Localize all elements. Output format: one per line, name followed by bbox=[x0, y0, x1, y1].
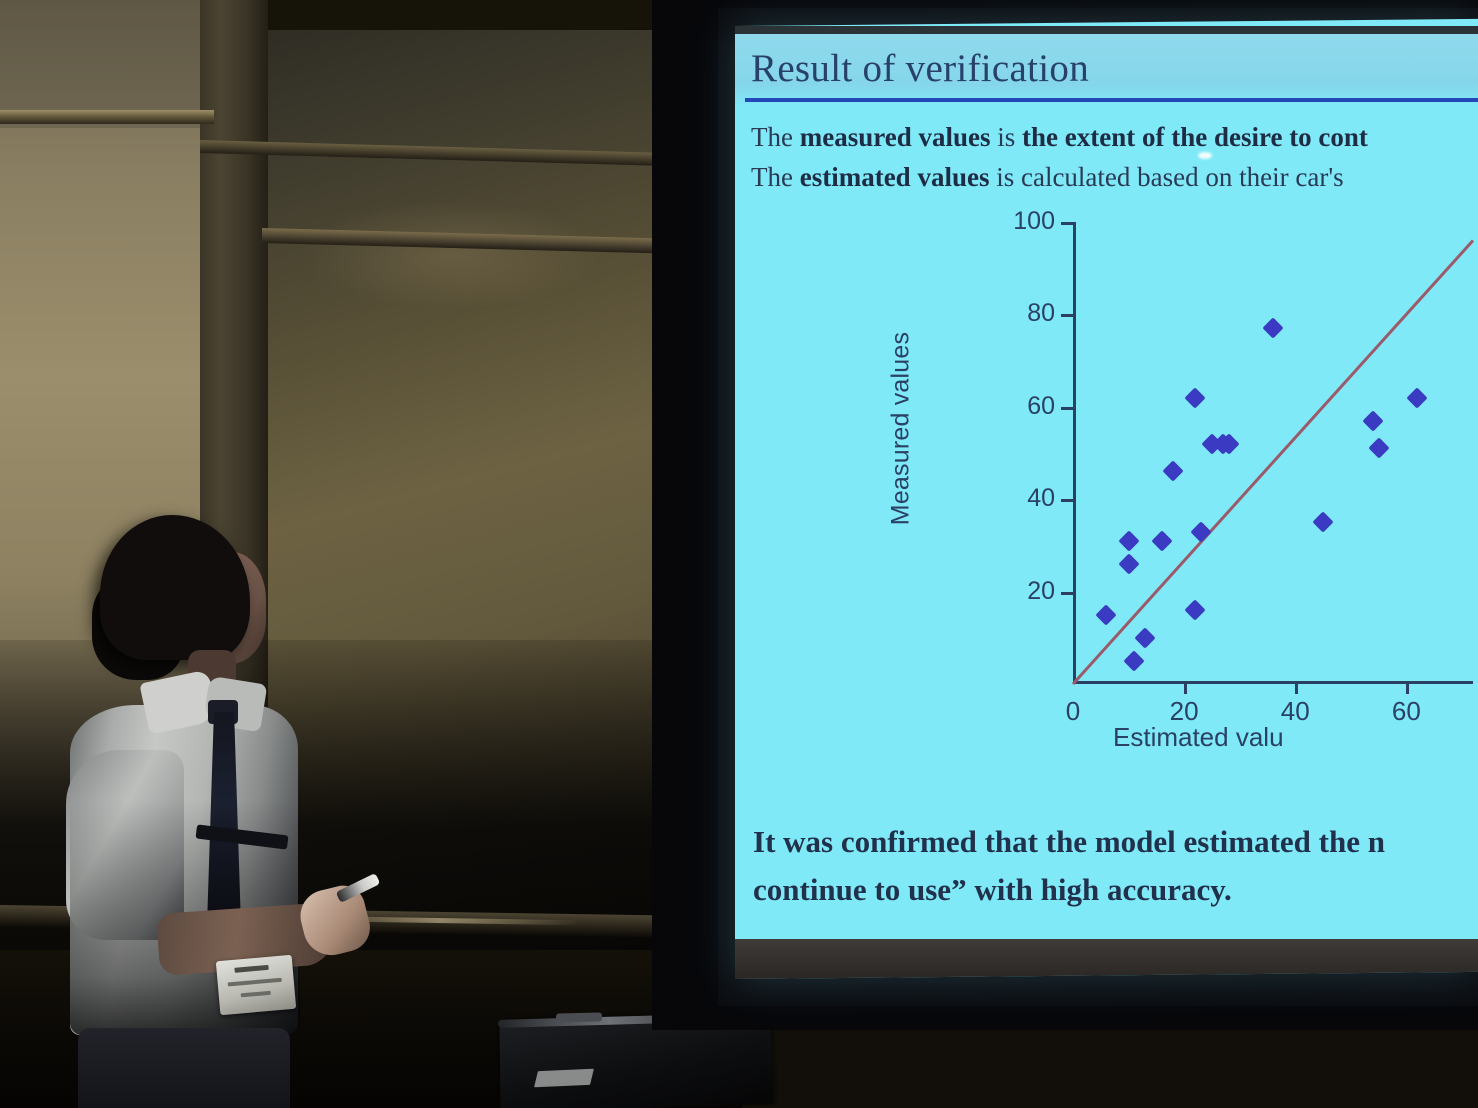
chart-y-tick-label: 20 bbox=[1027, 577, 1055, 606]
chart-y-tick-label: 40 bbox=[1027, 484, 1055, 513]
chart-y-tick-label: 60 bbox=[1027, 392, 1055, 421]
chart-y-tick-label: 80 bbox=[1027, 299, 1055, 328]
badge-line-country bbox=[241, 991, 271, 998]
badge-line-name bbox=[234, 965, 268, 973]
slide-body-line-2: The estimated values is calculated based… bbox=[751, 162, 1344, 193]
line1-bold-measured-values: measured values bbox=[800, 122, 991, 152]
line1-mid: is bbox=[991, 122, 1023, 152]
conclusion-line-2: continue to use” with high accuracy. bbox=[753, 872, 1232, 908]
laptop-hinge bbox=[556, 1012, 602, 1022]
chart-y-tick bbox=[1061, 407, 1075, 410]
line2-mid: is calculated based on their car's bbox=[989, 162, 1343, 192]
scatter-chart: Measured values Estimated valu 204060801… bbox=[963, 214, 1478, 774]
chart-x-tick-label: 60 bbox=[1392, 696, 1421, 727]
chart-x-tick-label: 0 bbox=[1066, 696, 1080, 727]
wall-left-upper bbox=[0, 0, 212, 128]
badge-line-affiliation bbox=[228, 978, 282, 987]
title-underline-rule bbox=[745, 98, 1478, 102]
line1-bold-tail: the extent of the desire to cont bbox=[1022, 122, 1368, 152]
line2-prefix: The bbox=[751, 162, 800, 192]
conclusion-line-1: It was confirmed that the model estimate… bbox=[753, 824, 1385, 860]
chart-trendline bbox=[1073, 222, 1473, 684]
name-badge bbox=[216, 955, 296, 1015]
presenter bbox=[40, 500, 370, 1108]
line2-bold-estimated-values: estimated values bbox=[800, 162, 990, 192]
chart-x-tick bbox=[1406, 681, 1409, 694]
chart-y-tick bbox=[1061, 592, 1075, 595]
line1-prefix: The bbox=[751, 122, 800, 152]
screenshot-root: Result of verification The measured valu… bbox=[0, 0, 1478, 1108]
chart-x-tick bbox=[1184, 681, 1187, 694]
slide-title: Result of verification bbox=[751, 46, 1089, 91]
chart-x-tick-label: 20 bbox=[1170, 696, 1199, 727]
slide: Result of verification The measured valu… bbox=[735, 34, 1478, 939]
chart-y-tick bbox=[1061, 314, 1075, 317]
chart-x-tick-label: 40 bbox=[1281, 696, 1310, 727]
projection-screen: Result of verification The measured valu… bbox=[735, 19, 1478, 979]
laptop-sticker-label bbox=[534, 1069, 594, 1088]
chart-x-tick bbox=[1295, 681, 1298, 694]
trousers bbox=[78, 1028, 290, 1108]
chart-plot-area: 204060801000204060 bbox=[1073, 222, 1473, 684]
hair bbox=[100, 515, 250, 660]
chart-y-axis-label: Measured values bbox=[887, 279, 916, 579]
slide-body-line-1: The measured values is the extent of the… bbox=[751, 122, 1368, 153]
chart-y-tick-label: 100 bbox=[1013, 207, 1055, 236]
chart-y-tick bbox=[1061, 222, 1075, 225]
chart-y-tick bbox=[1061, 499, 1075, 502]
projector-glare-spot bbox=[1198, 152, 1212, 159]
ceiling bbox=[262, 0, 662, 30]
wall-molding-left bbox=[0, 110, 214, 124]
screen-top-band bbox=[735, 26, 1478, 34]
